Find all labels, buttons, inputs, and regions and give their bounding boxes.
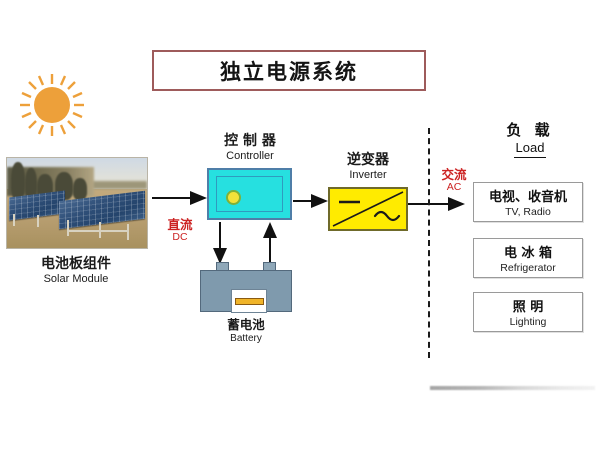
ac-sine-symbol xyxy=(375,212,399,220)
diagram-title-box: 独立电源系统 xyxy=(152,50,426,91)
arrow-inverter-to-load xyxy=(408,196,466,212)
load-item-label-cn: 照 明 xyxy=(513,296,544,315)
page-title: 独立电源系统 xyxy=(220,56,358,86)
battery-body xyxy=(200,270,292,312)
load-title-en: Load xyxy=(514,141,547,158)
load-item-label-cn: 电视、收音机 xyxy=(489,186,567,205)
ac-flow-label: 交流 AC xyxy=(432,168,476,193)
diagram-canvas: 独立电源系统 xyxy=(0,0,600,450)
indicator-led-icon xyxy=(226,190,241,205)
dc-label-cn: 直流 xyxy=(152,218,208,232)
controller-label-cn: 控 制 器 xyxy=(200,133,300,149)
inverter-label-en: Inverter xyxy=(323,169,413,182)
ac-label-en: AC xyxy=(432,182,476,194)
solar-module-label-cn: 电池板组件 xyxy=(6,256,146,272)
inverter-label-cn: 逆变器 xyxy=(323,152,413,168)
load-item-label-cn: 电 冰 箱 xyxy=(504,242,552,261)
arrow-solar-to-controller xyxy=(152,190,208,206)
load-section-title: 负 载 Load xyxy=(478,122,582,158)
load-item-label-en: TV, Radio xyxy=(505,206,551,218)
battery-label-cn: 蓄电池 xyxy=(196,318,296,332)
arrow-battery-to-controller xyxy=(262,222,278,264)
watermark-strip xyxy=(430,386,595,390)
battery-unit xyxy=(200,262,292,312)
arrow-controller-to-inverter xyxy=(293,193,329,209)
load-item-label-en: Refrigerator xyxy=(500,262,555,274)
solar-module-label-en: Solar Module xyxy=(6,273,146,286)
sun-icon xyxy=(18,72,86,138)
solar-panel-photo xyxy=(6,157,148,249)
ac-label-cn: 交流 xyxy=(432,168,476,182)
load-title-cn: 负 载 xyxy=(478,122,582,139)
inverter-unit xyxy=(328,187,408,231)
battery-cell-indicator xyxy=(235,298,264,305)
battery-window xyxy=(231,289,267,313)
dc-flow-label: 直流 DC xyxy=(152,218,208,243)
load-item-tv-radio: 电视、收音机 TV, Radio xyxy=(473,182,583,222)
battery-caption: 蓄电池 Battery xyxy=(196,318,296,345)
load-item-label-en: Lighting xyxy=(510,316,547,328)
ac-boundary-divider xyxy=(428,128,430,358)
inverter-caption: 逆变器 Inverter xyxy=(323,152,413,182)
solar-module-caption: 电池板组件 Solar Module xyxy=(6,256,146,286)
battery-label-en: Battery xyxy=(196,333,296,345)
load-item-lighting: 照 明 Lighting xyxy=(473,292,583,332)
arrow-controller-to-battery xyxy=(212,222,228,264)
controller-unit xyxy=(207,168,292,220)
controller-caption: 控 制 器 Controller xyxy=(200,133,300,163)
dc-label-en: DC xyxy=(152,232,208,244)
load-item-refrigerator: 电 冰 箱 Refrigerator xyxy=(473,238,583,278)
controller-label-en: Controller xyxy=(200,150,300,163)
